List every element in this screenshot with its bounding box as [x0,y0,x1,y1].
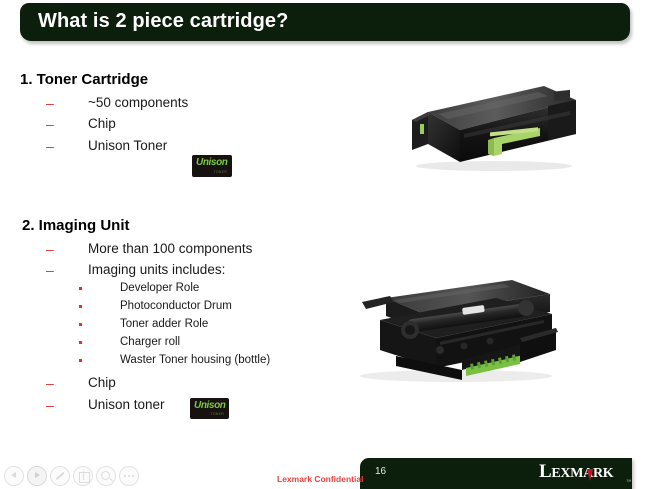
lexmark-lead-letter: L [539,461,551,482]
triangle-left-icon [11,472,16,478]
dash-marker-icon: – [46,376,54,390]
slide-number: 16 [375,466,386,477]
dot-marker-icon [79,305,82,308]
zoom-button[interactable] [96,466,116,486]
dash-marker-icon: – [46,263,54,277]
list-item-label: Unison toner [88,398,165,412]
unison-logo-badge: Unison TONER [190,398,229,419]
lexmark-wordmark: LEXMARK [539,462,613,481]
dash-marker-icon: – [46,139,54,153]
list-item-label: Unison Toner [88,139,167,153]
section-heading-toner-cartridge: 1. Toner Cartridge [20,71,148,88]
lexmark-rest-1: EXM [551,466,583,481]
list-item-label: Developer Role [120,283,199,295]
dot-marker-icon [79,359,82,362]
lexmark-red-diamond-icon [587,469,593,481]
list-item-label: More than 100 components [88,242,252,256]
list-item-label: Charger roll [120,337,180,349]
unison-logo-tagline: TONER [213,171,227,175]
unison-logo-text: Unison [196,158,228,168]
ellipsis-icon [124,475,134,477]
dot-marker-icon [79,323,82,326]
list-item-label: Photoconductor Drum [120,301,232,313]
dash-marker-icon: – [46,242,54,256]
triangle-right-icon [35,472,40,478]
more-button[interactable] [119,466,139,486]
layout-button[interactable] [73,466,93,486]
pen-icon [56,472,64,480]
dot-marker-icon [79,341,82,344]
section-heading-imaging-unit: 2. Imaging Unit [22,217,130,234]
trademark-symbol: ™ [626,480,631,485]
unison-logo-badge: Unison TONER [192,155,232,177]
list-item-label: Chip [88,117,116,131]
previous-button[interactable] [4,466,24,486]
list-item-label: Chip [88,376,116,390]
confidentiality-notice: Lexmark Confidential [277,474,363,484]
player-controls [4,466,139,486]
grid-icon [79,472,90,483]
dash-marker-icon: – [46,117,54,131]
dash-marker-icon: – [46,96,54,110]
play-button[interactable] [27,466,47,486]
pen-button[interactable] [50,466,70,486]
list-item-label: Toner adder Role [120,319,208,331]
list-item-label: ~50 components [88,96,188,110]
toner-cartridge-photo [398,78,582,172]
unison-logo-text: Unison [194,401,226,411]
list-item-label: Imaging units includes: [88,263,225,277]
dot-marker-icon [79,287,82,290]
page-title: What is 2 piece cartridge? [38,10,288,33]
magnifier-icon [101,471,110,480]
imaging-unit-illustration [344,264,566,386]
toner-cartridge-illustration [398,78,582,172]
dash-marker-icon: – [46,398,54,412]
lexmark-rest-2: RK [593,466,613,481]
list-item-label: Waster Toner housing (bottle) [120,355,270,367]
imaging-unit-photo [344,264,566,386]
lexmark-logo: LEXMARK ™ [539,462,631,486]
unison-logo-tagline: TONER [210,413,224,417]
slide-title-bar: What is 2 piece cartridge? [20,3,630,41]
